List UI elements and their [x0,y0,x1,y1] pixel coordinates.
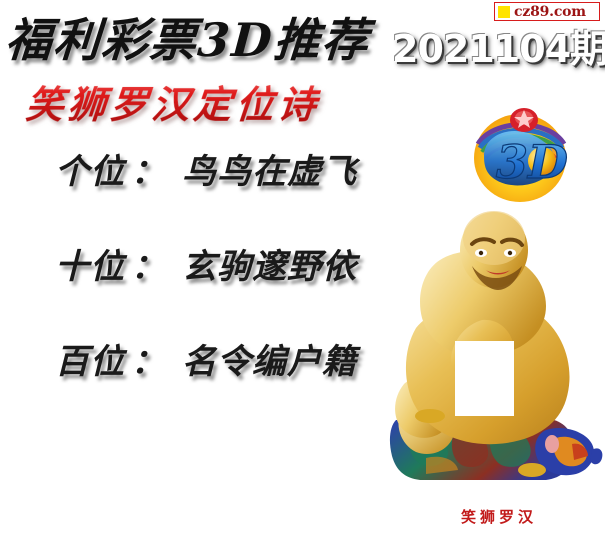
welfare-lottery-emblem-icon [510,108,538,132]
poem-line-label: 百位 [55,342,125,382]
logo-3d-label: 3D [496,135,568,189]
poem-line-label: 十位 [55,247,125,287]
poem-line-text: 名令编户籍 [182,342,357,382]
statue-caption: 笑狮罗汉 [443,506,555,527]
page-subtitle: 笑狮罗汉定位诗 [24,74,323,129]
white-patch [455,341,514,416]
statue-foot-left [415,409,445,423]
poem-line-colon: ： [131,247,166,287]
statue-foot-right [518,463,546,477]
lottery-recommendation-poster: cz89.com 福利彩票3D推荐 2021104期 笑狮罗汉定位诗 个位：鸟鸟… [0,0,605,533]
yellow-square-icon [498,6,510,18]
poem-line-label: 个位 [55,152,125,192]
3d-lottery-logo-icon: 3D [466,104,574,204]
poem-line-colon: ： [131,342,166,382]
poem-line-tens-digit: 十位：玄驹邃野依 [55,239,357,288]
poem-line-ones-digit: 个位：鸟鸟在虚飞 [55,144,357,193]
poem-line-colon: ： [131,152,166,192]
poem-line-text: 玄驹邃野依 [182,247,357,287]
issue-number: 2021104期 [392,18,605,73]
page-title: 福利彩票3D推荐 [4,4,373,70]
poem-line-hundreds-digit: 百位：名令编户籍 [55,334,357,383]
site-domain-label: cz89.com [514,5,586,19]
poem-line-text: 鸟鸟在虚飞 [182,152,357,192]
